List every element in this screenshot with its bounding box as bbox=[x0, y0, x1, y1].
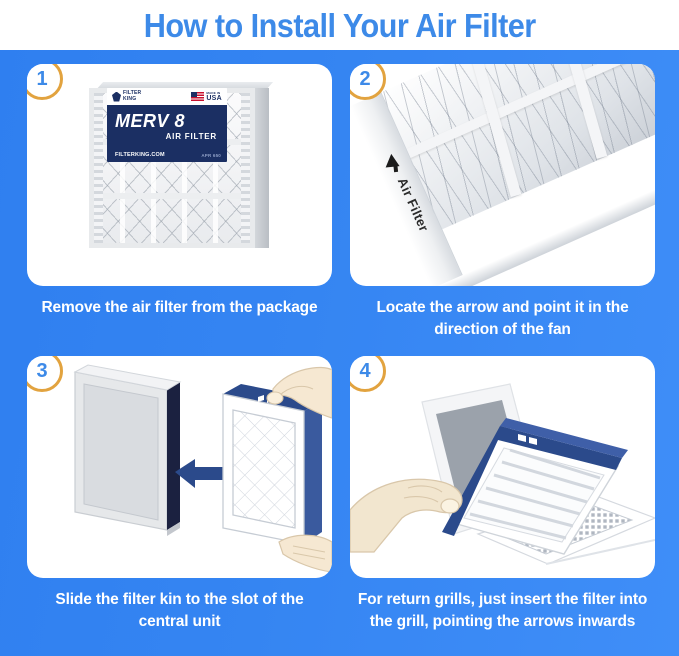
steps-grid: FILTER KING MADE IN USA bbox=[0, 50, 679, 656]
step-2-number: 2 bbox=[359, 69, 370, 89]
step-1-card: FILTER KING MADE IN USA bbox=[27, 64, 332, 286]
filter-right-edge bbox=[241, 93, 250, 243]
made-in-usa-text: MADE IN USA bbox=[206, 92, 222, 102]
step-1-caption: Remove the air filter from the package bbox=[27, 297, 332, 319]
step-1-number: 1 bbox=[36, 69, 47, 89]
filter-product-label: FILTER KING MADE IN USA bbox=[107, 88, 227, 162]
hand-lower bbox=[279, 535, 332, 572]
step-3-card: 3 bbox=[27, 356, 332, 578]
step-4-card: 4 bbox=[350, 356, 655, 578]
filter-side-depth bbox=[253, 88, 269, 248]
usa-flag-icon bbox=[191, 92, 204, 101]
filter-product-image: FILTER KING MADE IN USA bbox=[89, 82, 269, 254]
step-4-caption: For return grills, just insert the filte… bbox=[350, 589, 655, 633]
label-header: FILTER KING MADE IN USA bbox=[107, 88, 227, 105]
airflow-arrow-tail-icon bbox=[393, 166, 398, 172]
made-in-usa-badge: MADE IN USA bbox=[191, 92, 222, 102]
step-3-number: 3 bbox=[36, 361, 47, 381]
filter-king-logo: FILTER KING bbox=[112, 91, 141, 102]
step-4-number: 4 bbox=[359, 361, 370, 381]
filter-corner-body: Air Filter bbox=[350, 64, 655, 286]
apr-rating: APR 650 bbox=[201, 153, 221, 158]
brand-website: FILTERKING.COM bbox=[115, 152, 165, 158]
central-unit-slot bbox=[75, 365, 180, 536]
return-grill-svg bbox=[350, 356, 655, 578]
country-label: USA bbox=[206, 95, 222, 102]
hand-holding-filter bbox=[350, 479, 462, 552]
steps-background: FILTER KING MADE IN USA bbox=[0, 50, 679, 656]
infographic-root: How to Install Your Air Filter bbox=[0, 0, 679, 656]
brand-name: FILTER KING bbox=[123, 91, 141, 102]
filter-support-rail bbox=[94, 193, 250, 199]
filter-corner-scene: Air Filter bbox=[350, 64, 655, 286]
insert-filter-return-grill-illustration bbox=[350, 356, 655, 578]
air-filter-frame-text: Air Filter bbox=[395, 175, 423, 212]
slide-filter-svg bbox=[27, 356, 332, 578]
step-2-caption: Locate the arrow and point it in the dir… bbox=[350, 297, 655, 341]
product-type: AIR FILTER bbox=[115, 132, 219, 141]
merv-rating: MERV 8 bbox=[115, 112, 219, 130]
filter-corner-arrow-photo: Air Filter bbox=[350, 64, 655, 286]
air-filter-package-photo: FILTER KING MADE IN USA bbox=[27, 64, 332, 286]
filter-left-edge bbox=[94, 93, 103, 243]
step-2: Air Filter 2 Locate the arrow and point … bbox=[350, 64, 655, 341]
insert-direction-arrow bbox=[175, 459, 223, 488]
step-1: FILTER KING MADE IN USA bbox=[27, 64, 332, 319]
title-band: How to Install Your Air Filter bbox=[0, 0, 679, 50]
crown-icon bbox=[112, 92, 121, 102]
brand-line-2: KING bbox=[123, 96, 136, 102]
step-2-card: Air Filter 2 bbox=[350, 64, 655, 286]
page-title: How to Install Your Air Filter bbox=[144, 9, 536, 42]
slide-filter-into-slot-illustration bbox=[27, 356, 332, 578]
step-3: 3 Slide the filter kin to the slot of th… bbox=[27, 356, 332, 633]
label-footer: FILTERKING.COM APR 650 bbox=[115, 152, 221, 158]
step-3-caption: Slide the filter kin to the slot of the … bbox=[27, 589, 332, 633]
label-body: MERV 8 AIR FILTER FILTERKING.COM APR 650 bbox=[107, 105, 227, 162]
step-4: 4 For return grills, just insert the fil… bbox=[350, 356, 655, 633]
